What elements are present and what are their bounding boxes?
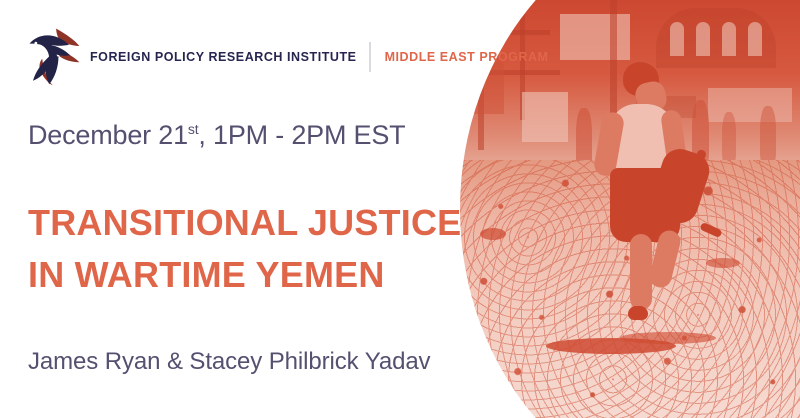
title-line-2: IN WARTIME YEMEN bbox=[28, 249, 461, 301]
speaker-names: James Ryan & Stacey Philbrick Yadav bbox=[28, 348, 430, 376]
program-name: MIDDLE EAST PROGRAM bbox=[385, 50, 549, 64]
event-date-prefix: December 21 bbox=[28, 120, 188, 150]
falcon-bird-icon bbox=[26, 26, 84, 88]
event-datetime: December 21st, 1PM - 2PM EST bbox=[28, 120, 405, 151]
event-time-range: , 1PM - 2PM EST bbox=[198, 120, 405, 150]
date-ordinal-suffix: st bbox=[188, 121, 199, 137]
content-column: FOREIGN POLICY RESEARCH INSTITUTE MIDDLE… bbox=[0, 0, 470, 418]
organization-name: FOREIGN POLICY RESEARCH INSTITUTE bbox=[90, 50, 357, 64]
brand-divider bbox=[369, 42, 371, 72]
title-line-1: TRANSITIONAL JUSTICE bbox=[28, 197, 461, 249]
event-promo-poster: FOREIGN POLICY RESEARCH INSTITUTE MIDDLE… bbox=[0, 0, 800, 418]
page-title: TRANSITIONAL JUSTICE IN WARTIME YEMEN bbox=[28, 197, 461, 301]
brand-lockup: FOREIGN POLICY RESEARCH INSTITUTE MIDDLE… bbox=[26, 24, 549, 90]
